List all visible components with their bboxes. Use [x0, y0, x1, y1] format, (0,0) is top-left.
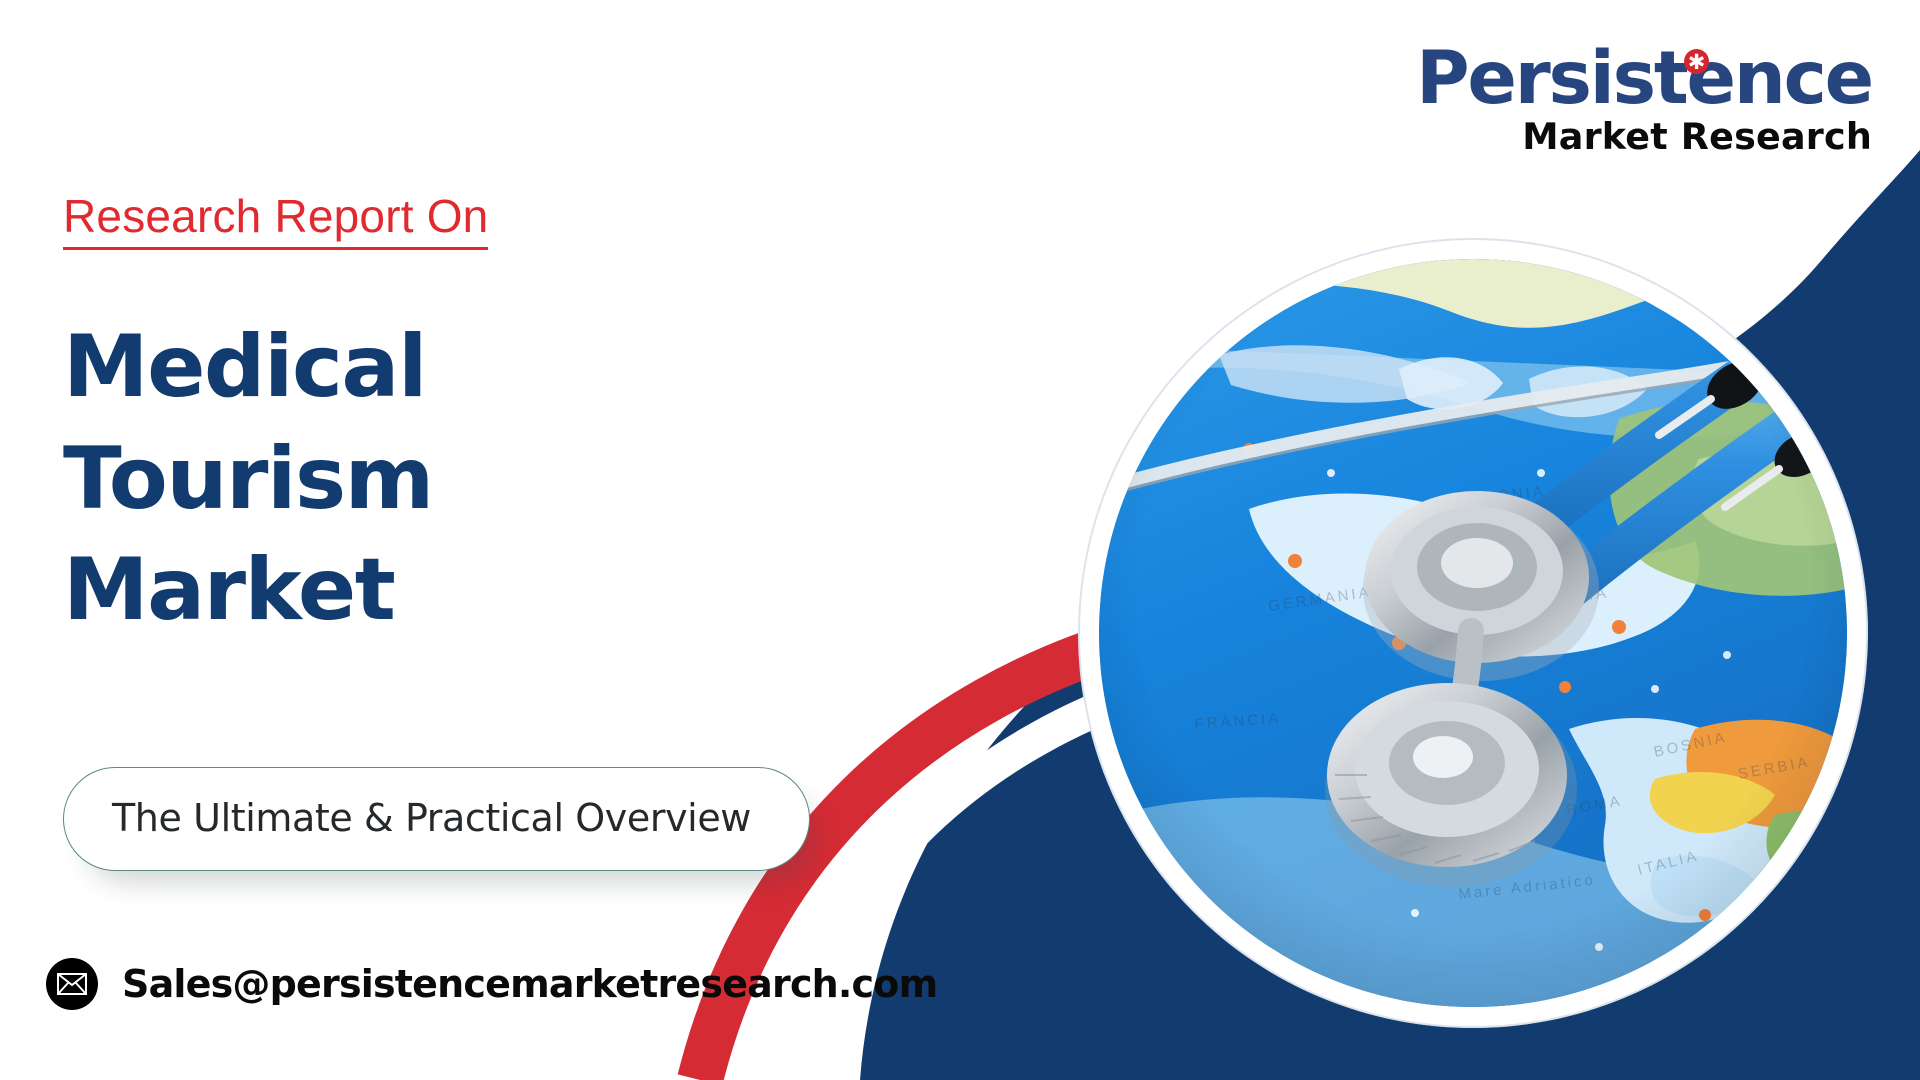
hero-text-block: Research Report On Medical Tourism Marke… [63, 190, 943, 871]
brand-logo[interactable]: Persistence ✱ Market Research [1416, 42, 1872, 156]
hero-photo-world-map-stethoscope: GERMANIA POLONIA FRANCIA ELVETIA BOSNIA … [1099, 259, 1847, 1007]
asterisk-icon: ✱ [1684, 49, 1709, 74]
page-title: Medical Tourism Market [63, 312, 943, 647]
report-cover-poster: Persistence ✱ Market Research Research R… [0, 0, 1920, 1080]
logo-tagline: Market Research [1416, 119, 1872, 156]
envelope-icon [46, 958, 98, 1010]
logo-wordmark-text: Persistence [1416, 36, 1872, 121]
page-title-line-2: Tourism [63, 424, 943, 536]
eyebrow-label: Research Report On [63, 190, 488, 250]
contact-email-text[interactable]: Sales@persistencemarketresearch.com [122, 962, 937, 1006]
page-title-line-3: Market [63, 535, 943, 647]
contact-row[interactable]: Sales@persistencemarketresearch.com [46, 958, 937, 1010]
subtitle-pill[interactable]: The Ultimate & Practical Overview [63, 767, 810, 871]
page-title-line-1: Medical [63, 312, 943, 424]
logo-wordmark: Persistence ✱ [1416, 42, 1872, 115]
subtitle-pill-label: The Ultimate & Practical Overview [112, 796, 751, 840]
hero-image-circle: GERMANIA POLONIA FRANCIA ELVETIA BOSNIA … [1078, 238, 1868, 1028]
